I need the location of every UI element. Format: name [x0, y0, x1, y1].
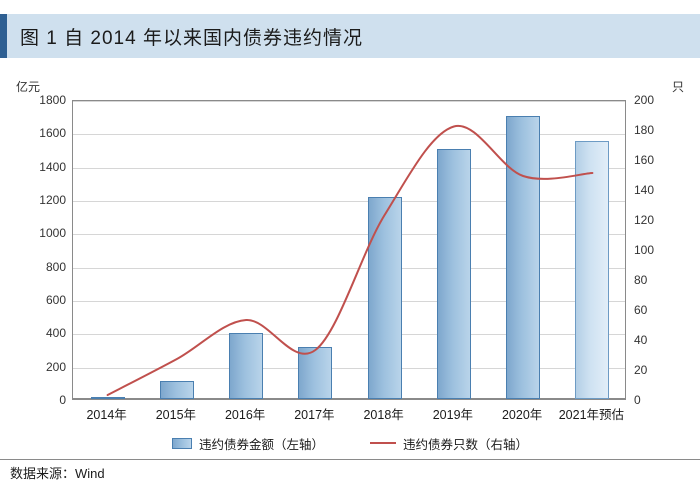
legend-item-line: 违约债券只数（右轴） [370, 434, 528, 453]
x-axis-tick-label: 2020年 [502, 404, 542, 423]
footer-divider [0, 459, 700, 460]
title-accent-bar [0, 14, 7, 58]
bar-2016年 [229, 333, 263, 399]
x-axis-tick-label: 2018年 [363, 404, 403, 423]
legend-item-bar: 违约债券金额（左轴） [172, 434, 324, 453]
gridline [73, 301, 625, 302]
left-axis-tick-label: 1000 [18, 227, 66, 239]
right-axis-tick-label: 0 [634, 394, 680, 406]
gridline [73, 201, 625, 202]
right-axis-tick-label: 200 [634, 94, 680, 106]
x-axis-line [73, 398, 625, 399]
right-axis-tick-label: 160 [634, 154, 680, 166]
gridline [73, 268, 625, 269]
gridline [73, 168, 625, 169]
chart-container: 亿元 只 02004006008001000120014001600180002… [0, 64, 700, 454]
plot-area [72, 100, 626, 400]
bar-2019年 [437, 149, 471, 399]
bar-2021年预估 [575, 141, 609, 399]
left-axis-tick-label: 800 [18, 261, 66, 273]
bar-2015年 [160, 381, 194, 399]
left-axis-tick-label: 600 [18, 294, 66, 306]
x-axis-tick-label: 2014年 [86, 404, 126, 423]
right-axis-tick-label: 180 [634, 124, 680, 136]
x-axis-tick-label: 2021年预估 [559, 404, 624, 423]
left-axis-tick-label: 0 [18, 394, 66, 406]
left-axis-tick-label: 1400 [18, 161, 66, 173]
right-axis-tick-label: 120 [634, 214, 680, 226]
gridline [73, 368, 625, 369]
right-axis-unit: 只 [672, 78, 684, 95]
x-axis-tick-label: 2016年 [225, 404, 265, 423]
right-axis-tick-label: 60 [634, 304, 680, 316]
legend-line-label: 违约债券只数（右轴） [403, 434, 528, 453]
line-series-overlay [73, 101, 627, 401]
figure-root: 图 1 自 2014 年以来国内债券违约情况 亿元 只 020040060080… [0, 0, 700, 494]
bar-2020年 [506, 116, 540, 399]
gridline [73, 101, 625, 102]
right-axis-tick-label: 100 [634, 244, 680, 256]
x-axis-tick-label: 2015年 [156, 404, 196, 423]
gridline [73, 134, 625, 135]
gridline [73, 234, 625, 235]
x-axis-labels: 2014年2015年2016年2017年2018年2019年2020年2021年… [72, 404, 626, 426]
legend-bar-label: 违约债券金额（左轴） [199, 434, 324, 453]
left-axis-tick-label: 1600 [18, 127, 66, 139]
x-axis-tick-label: 2019年 [433, 404, 473, 423]
legend-line-swatch-icon [370, 442, 396, 444]
bar-2017年 [298, 347, 332, 399]
right-axis-tick-label: 80 [634, 274, 680, 286]
left-axis-tick-label: 400 [18, 327, 66, 339]
page-title: 图 1 自 2014 年以来国内债券违约情况 [20, 23, 363, 50]
chart-legend: 违约债券金额（左轴） 违约债券只数（右轴） [0, 432, 700, 454]
left-axis-tick-label: 200 [18, 361, 66, 373]
left-axis-tick-label: 1200 [18, 194, 66, 206]
right-axis-tick-label: 20 [634, 364, 680, 376]
figure-title-bar: 图 1 自 2014 年以来国内债券违约情况 [0, 14, 700, 58]
x-axis-tick-label: 2017年 [294, 404, 334, 423]
right-axis-tick-label: 140 [634, 184, 680, 196]
bar-2018年 [368, 197, 402, 399]
legend-bar-swatch-icon [172, 438, 192, 449]
left-axis-unit: 亿元 [16, 78, 40, 95]
left-axis-tick-label: 1800 [18, 94, 66, 106]
gridline [73, 334, 625, 335]
right-axis-tick-label: 40 [634, 334, 680, 346]
bar-2014年 [91, 397, 125, 399]
source-note: 数据来源：Wind [10, 463, 105, 482]
